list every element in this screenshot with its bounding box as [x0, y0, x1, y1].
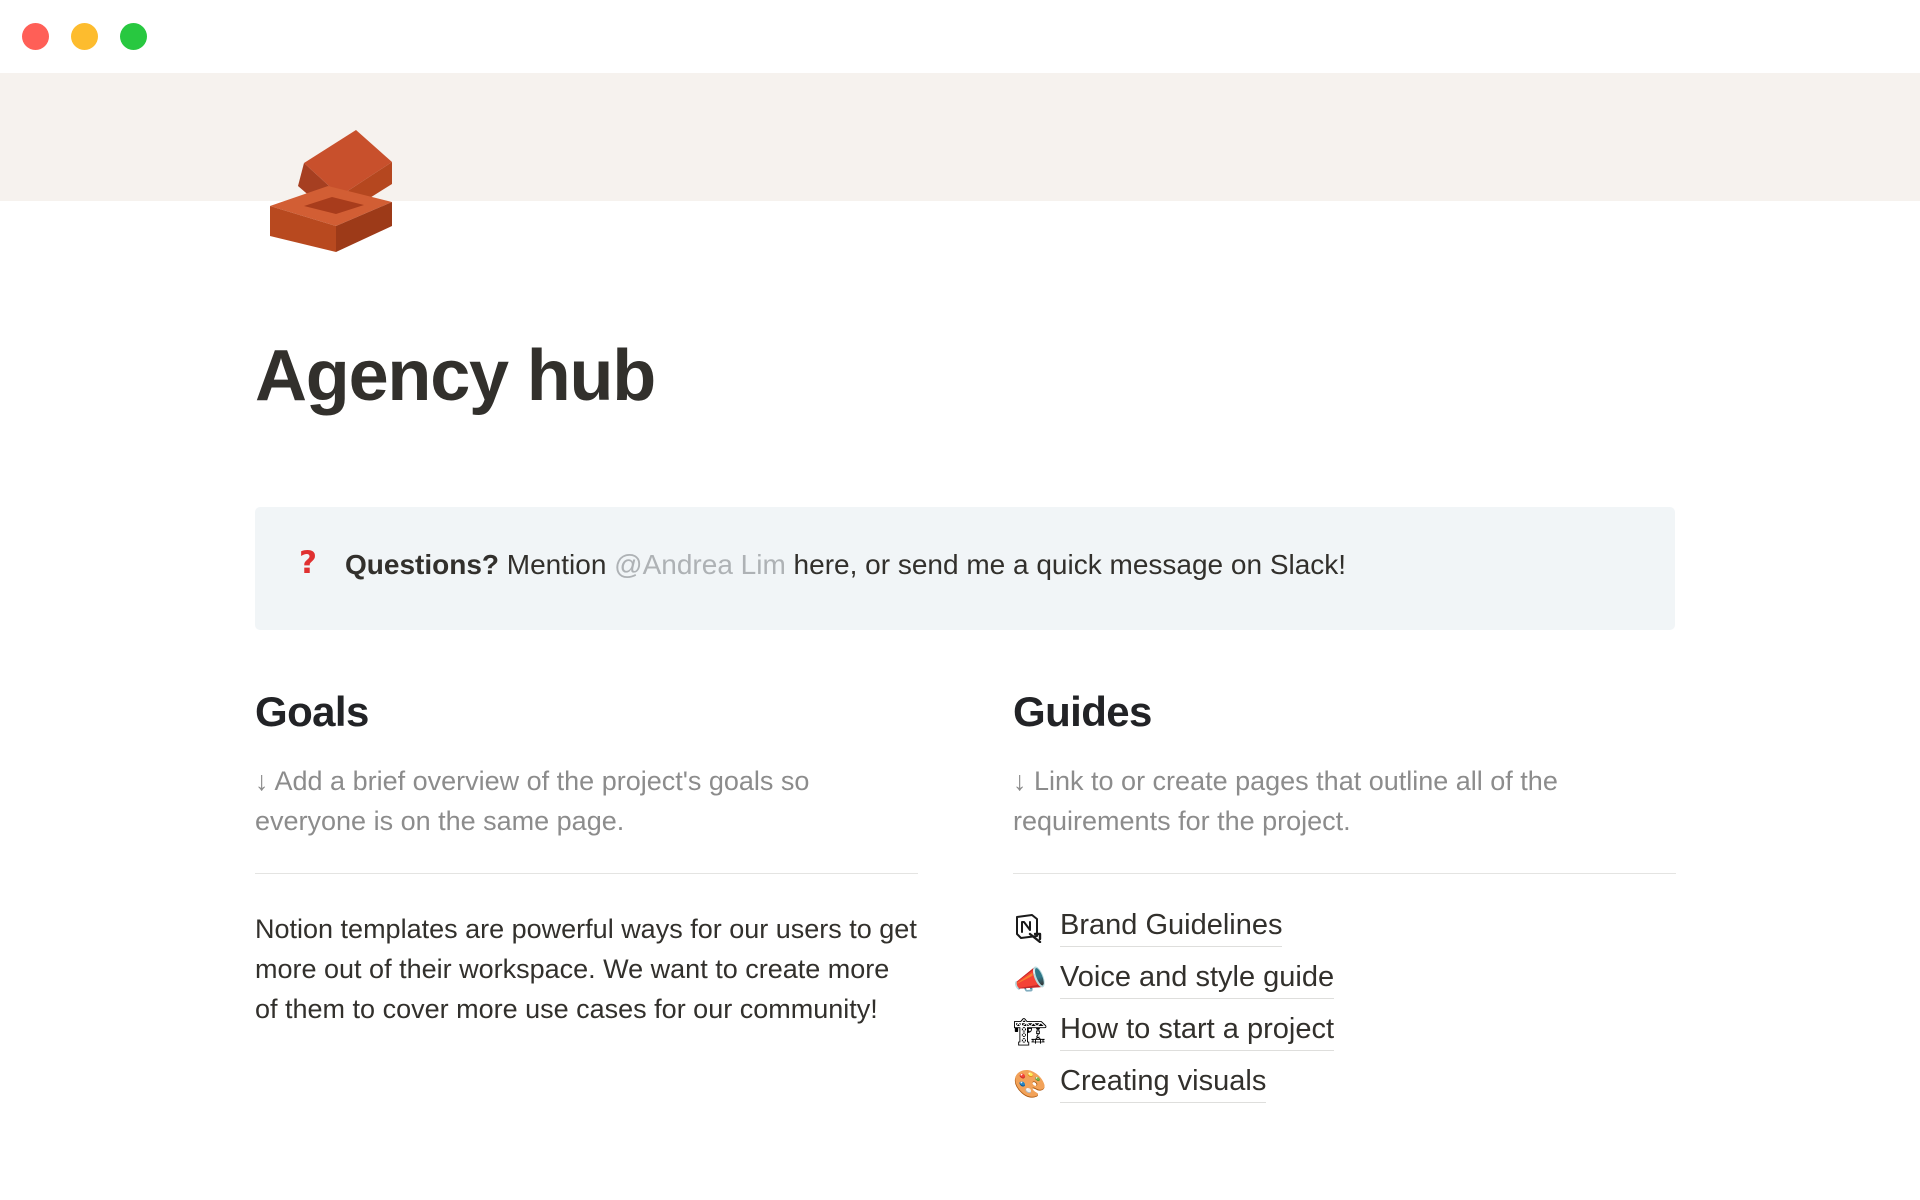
- goals-divider: [255, 873, 918, 874]
- two-column-layout: Goals ↓ Add a brief overview of the proj…: [255, 688, 1695, 1110]
- window-titlebar: [0, 0, 1920, 73]
- megaphone-icon: 📣: [1013, 967, 1043, 994]
- window-controls: [0, 23, 147, 50]
- questions-callout[interactable]: ? Questions? Mention @Andrea Lim here, o…: [255, 507, 1675, 630]
- page-content: Agency hub ? Questions? Mention @Andrea …: [0, 201, 1920, 1110]
- guides-link-list: Brand Guidelines 📣 Voice and style guide…: [1013, 902, 1676, 1110]
- callout-text-after-mention: here, or send me a quick message on Slac…: [786, 549, 1346, 580]
- list-item[interactable]: Brand Guidelines: [1013, 902, 1676, 954]
- guides-hint-text: ↓ Link to or create pages that outline a…: [1013, 762, 1676, 842]
- guides-column: Guides ↓ Link to or create pages that ou…: [1013, 688, 1676, 1110]
- guide-link-label[interactable]: Voice and style guide: [1060, 961, 1334, 999]
- goals-column: Goals ↓ Add a brief overview of the proj…: [255, 688, 918, 1110]
- maximize-button[interactable]: [120, 23, 147, 50]
- goals-hint-text: ↓ Add a brief overview of the project's …: [255, 762, 918, 842]
- list-item[interactable]: 🎨 Creating visuals: [1013, 1058, 1676, 1110]
- minimize-button[interactable]: [71, 23, 98, 50]
- list-item[interactable]: 📣 Voice and style guide: [1013, 954, 1676, 1006]
- goals-body-text[interactable]: Notion templates are powerful ways for o…: [255, 910, 918, 1030]
- notion-page-link-icon: [1013, 913, 1043, 943]
- list-item[interactable]: 🏗 How to start a project: [1013, 1006, 1676, 1058]
- callout-bold-lead: Questions?: [345, 549, 499, 580]
- page-title[interactable]: Agency hub: [255, 340, 1695, 412]
- guides-divider: [1013, 873, 1676, 874]
- close-button[interactable]: [22, 23, 49, 50]
- goals-heading[interactable]: Goals: [255, 688, 918, 736]
- guide-link-label[interactable]: Creating visuals: [1060, 1065, 1266, 1103]
- guide-link-label[interactable]: Brand Guidelines: [1060, 909, 1282, 947]
- guides-heading[interactable]: Guides: [1013, 688, 1676, 736]
- callout-text: Questions? Mention @Andrea Lim here, or …: [345, 545, 1346, 584]
- mention-andrea-lim[interactable]: @Andrea Lim: [614, 549, 786, 580]
- guide-link-label[interactable]: How to start a project: [1060, 1013, 1334, 1051]
- callout-text-before-mention: Mention: [499, 549, 614, 580]
- artist-palette-icon: 🎨: [1013, 1071, 1043, 1098]
- red-question-mark-icon: ?: [299, 545, 317, 582]
- construction-crane-icon: 🏗: [1013, 1019, 1043, 1046]
